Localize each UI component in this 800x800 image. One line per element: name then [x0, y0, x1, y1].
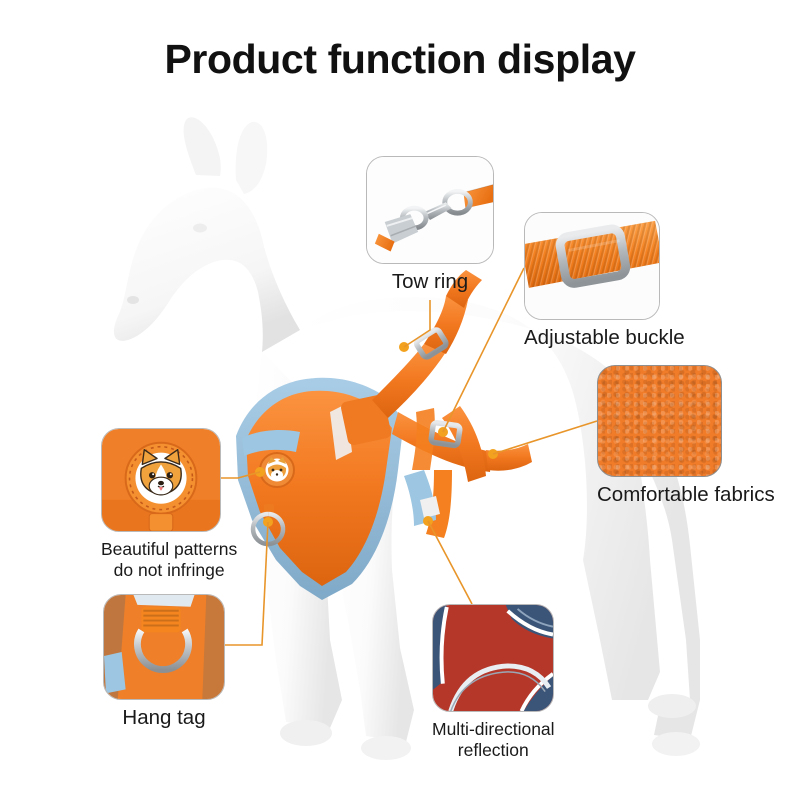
corgi-patch-art — [102, 429, 220, 531]
tow-ring-image — [366, 156, 494, 264]
comfortable-fabrics-image — [597, 365, 722, 477]
tow-ring-art — [367, 157, 493, 263]
callout-hang-tag[interactable]: Hang tag — [103, 594, 225, 730]
comfortable-fabrics-label: Comfortable fabrics — [597, 484, 775, 507]
hang-tag-image — [103, 594, 225, 700]
adjustable-buckle-label: Adjustable buckle — [524, 327, 685, 350]
reflection-image — [432, 604, 554, 712]
beautiful-patterns-image — [101, 428, 221, 532]
hang-tag-label: Hang tag — [103, 707, 225, 730]
leader-line-tow-ring — [404, 300, 430, 347]
callout-beautiful-patterns[interactable]: Beautiful patterns do not infringe — [101, 428, 237, 581]
callout-tow-ring[interactable]: Tow ring — [366, 156, 494, 294]
hang-tag-art — [104, 595, 224, 699]
callout-multi-directional-reflection[interactable]: Multi-directional reflection — [432, 604, 555, 761]
callout-comfortable-fabrics[interactable]: Comfortable fabrics — [597, 365, 775, 507]
reflection-label: Multi-directional reflection — [432, 719, 555, 761]
tow-ring-label: Tow ring — [366, 271, 494, 294]
infographic-canvas: Product function display — [0, 0, 800, 800]
callout-adjustable-buckle[interactable]: Adjustable buckle — [524, 212, 685, 350]
leader-line-comfortable-fabrics — [493, 421, 597, 454]
leader-line-reflection — [428, 521, 472, 604]
adjustable-buckle-art — [525, 213, 659, 319]
adjustable-buckle-image — [524, 212, 660, 320]
reflection-art — [433, 605, 553, 711]
beautiful-patterns-label: Beautiful patterns do not infringe — [101, 539, 237, 581]
